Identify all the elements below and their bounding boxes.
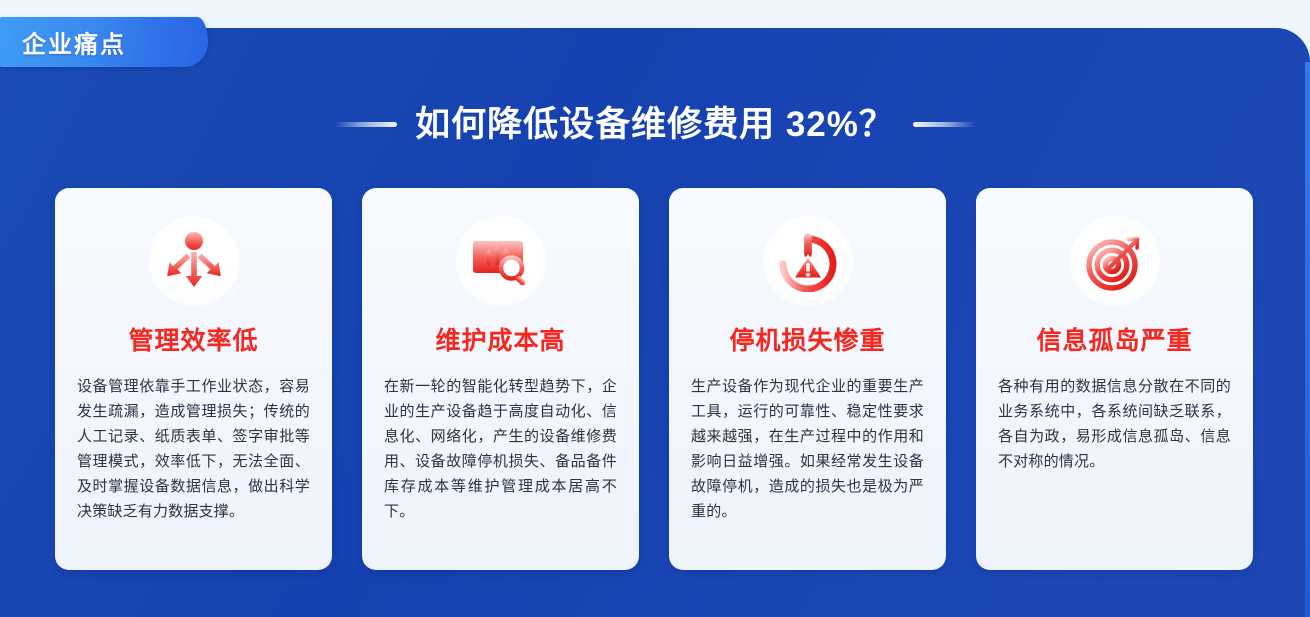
diverging-down-arrows-icon xyxy=(149,216,239,306)
card-body: 各种有用的数据信息分散在不同的业务系统中，各系统间缺乏联系，各自为政，易形成信息… xyxy=(998,374,1231,474)
chart-magnifier-icon xyxy=(456,216,546,306)
ribbon-label: 企业痛点 xyxy=(22,25,126,60)
card-title: 停机损失惨重 xyxy=(729,328,885,356)
headline-rule-right-icon xyxy=(913,122,975,127)
card-title: 管理效率低 xyxy=(128,328,258,356)
target-arrow-icon xyxy=(1070,216,1160,306)
card-body: 生产设备作为现代企业的重要生产工具，运行的可靠性、稳定性要求越来越强，在生产过程… xyxy=(691,374,924,524)
page-title: 如何降低设备维修费用 32%？ xyxy=(415,107,895,142)
pain-point-card-list: 管理效率低 设备管理依靠手工作业状态，容易发生疏漏，造成管理损失；传统的人工记录… xyxy=(55,188,1255,570)
pain-points-section: 企业痛点 如何降低设备维修费用 32%？ xyxy=(0,0,1310,617)
headline-rule-left-icon xyxy=(335,122,397,127)
section-ribbon-tab: 企业痛点 xyxy=(0,17,208,67)
power-warning-icon xyxy=(763,216,853,306)
card-title: 信息孤岛严重 xyxy=(1036,328,1192,356)
card-body: 在新一轮的智能化转型趋势下，企业的生产设备趋于高度自动化、信息化、网络化，产生的… xyxy=(384,374,617,524)
card-body: 设备管理依靠手工作业状态，容易发生疏漏，造成管理损失；传统的人工记录、纸质表单、… xyxy=(77,374,310,524)
pain-point-card[interactable]: 信息孤岛严重 各种有用的数据信息分散在不同的业务系统中，各系统间缺乏联系，各自为… xyxy=(976,188,1253,570)
pain-point-card[interactable]: 停机损失惨重 生产设备作为现代企业的重要生产工具，运行的可靠性、稳定性要求越来越… xyxy=(669,188,946,570)
pain-point-card[interactable]: 管理效率低 设备管理依靠手工作业状态，容易发生疏漏，造成管理损失；传统的人工记录… xyxy=(55,188,332,570)
pain-point-card[interactable]: 维护成本高 在新一轮的智能化转型趋势下，企业的生产设备趋于高度自动化、信息化、网… xyxy=(362,188,639,570)
card-title: 维护成本高 xyxy=(435,328,565,356)
headline-row: 如何降低设备维修费用 32%？ xyxy=(0,96,1310,152)
